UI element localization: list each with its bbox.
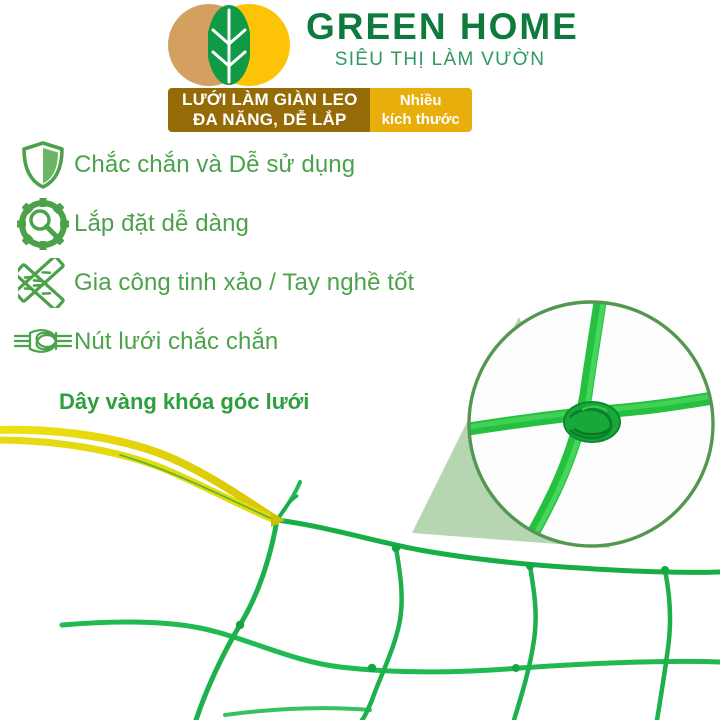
- banner-right: Nhiều kích thước: [370, 88, 472, 132]
- yellow-corner-cord: [0, 430, 277, 521]
- feature-item-craftsmanship: Gia công tinh xảo / Tay nghề tốt: [12, 256, 482, 310]
- banner-right-line1: Nhiều: [382, 91, 460, 110]
- feature-item-durable: Chắc chắn và Dễ sử dụng: [12, 138, 482, 192]
- banner-left-line2: ĐA NĂNG, DỄ LẮP: [182, 110, 358, 130]
- banner-right-line2: kích thước: [382, 110, 460, 129]
- shield-icon: [12, 140, 74, 190]
- product-infographic: GREEN HOME SIÊU THỊ LÀM VƯỜN LƯỚI LÀM GI…: [0, 0, 720, 720]
- brand-logo: GREEN HOME SIÊU THỊ LÀM VƯỜN: [168, 2, 568, 90]
- feature-label: Chắc chắn và Dễ sử dụng: [74, 151, 355, 179]
- ruler-pencil-icon: [12, 258, 74, 308]
- logo-leaf-icon: [208, 4, 250, 86]
- product-banner: LƯỚI LÀM GIÀN LEO ĐA NĂNG, DỄ LẮP Nhiều …: [168, 88, 472, 132]
- banner-left: LƯỚI LÀM GIÀN LEO ĐA NĂNG, DỄ LẮP: [168, 88, 370, 132]
- feature-label: Gia công tinh xảo / Tay nghề tốt: [74, 269, 414, 297]
- feature-item-easy-install: Lắp đặt dễ dàng: [12, 197, 482, 251]
- feature-label: Nút lưới chắc chắn: [74, 328, 278, 356]
- cord-caption: Dây vàng khóa góc lưới: [59, 389, 309, 415]
- brand-subtitle: SIÊU THỊ LÀM VƯỜN: [306, 48, 574, 72]
- logo-emblem-icon: [168, 4, 290, 86]
- brand-wordmark: GREEN HOME SIÊU THỊ LÀM VƯỜN: [306, 6, 574, 72]
- feature-list: Chắc chắn và Dễ sử dụng: [12, 138, 482, 374]
- brand-name: GREEN HOME: [306, 6, 574, 48]
- feature-item-strong-knot: Nút lưới chắc chắn: [12, 315, 482, 369]
- gear-search-icon: [12, 198, 74, 250]
- knot-icon: [12, 325, 74, 359]
- feature-label: Lắp đặt dễ dàng: [74, 210, 249, 238]
- banner-left-line1: LƯỚI LÀM GIÀN LEO: [182, 90, 358, 110]
